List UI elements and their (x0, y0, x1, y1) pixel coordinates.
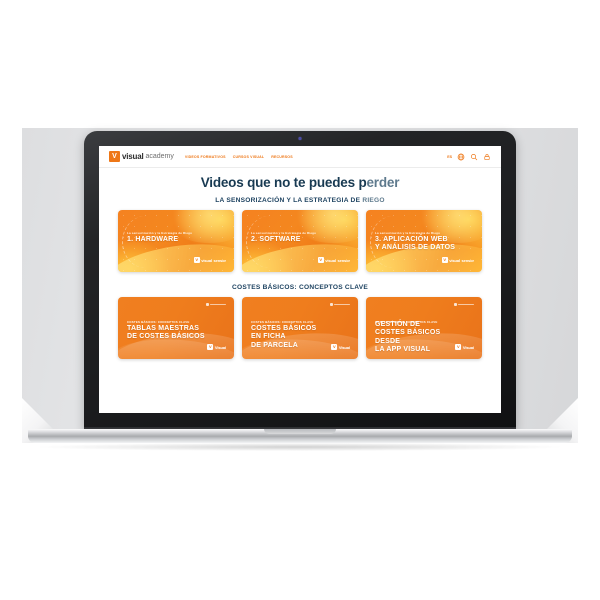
section-heading-main: LA SENSORIZACIÓN Y LA ESTRATEGIA DE (215, 197, 362, 204)
card-logo-visual: V Visual (455, 344, 474, 350)
card-logo-visualsensor: V visual sensor (318, 257, 350, 263)
laptop-base-notch (264, 429, 336, 434)
card-logo-mark-icon: V (194, 257, 200, 263)
laptop-screen: V visual academy VIDEOS FORMATIVOS CURSO… (99, 146, 501, 413)
card-title: GESTIÓN DE COSTES BÁSICOS DESDE LA APP V… (375, 321, 440, 354)
nav-item-cursos-visual[interactable]: CURSOS VISUAL (233, 155, 265, 159)
card-badge-bar (334, 304, 350, 306)
card-title: COSTES BÁSICOS EN FICHA DE PARCELA (251, 325, 316, 350)
site-navbar: V visual academy VIDEOS FORMATIVOS CURSO… (99, 146, 501, 168)
section-heading-costes: COSTES BÁSICOS: CONCEPTOS CLAVE (109, 284, 491, 291)
card-logo-mark-icon: V (331, 344, 337, 350)
card-logo-text-bold: sensor (337, 258, 350, 263)
laptop-shadow (40, 443, 560, 451)
logo-subword: academy (145, 153, 173, 160)
language-label[interactable]: ES (447, 155, 452, 159)
card-logo-mark-icon: V (442, 257, 448, 263)
card-title: 3. APLICACIÓN WEB Y ANÁLISIS DE DATOS (375, 236, 455, 253)
card-logo-visualsensor: V visual sensor (442, 257, 474, 263)
site-logo[interactable]: V visual academy (109, 151, 174, 162)
card-logo-text: visual (201, 258, 212, 263)
card-row-costes: COSTES BÁSICOS: CONCEPTOS CLAVE TABLAS M… (109, 297, 491, 359)
section-heading-accent: RIEGO (362, 197, 385, 204)
card-badge (206, 303, 227, 306)
video-card-gestion-app-visual[interactable]: COSTES BÁSICOS: CONCEPTOS CLAVE GESTIÓN … (366, 297, 482, 359)
nav-item-videos-formativos[interactable]: VIDEOS FORMATIVOS (185, 155, 226, 159)
card-logo-visualsensor: V visual sensor (194, 257, 226, 263)
card-eyebrow: La sensorización y la Estrategia de Rieg… (375, 231, 440, 235)
card-row-sensorizacion: La sensorización y la Estrategia de Rieg… (109, 210, 491, 272)
nav-utilities: ES (447, 153, 491, 161)
card-logo-mark-icon: V (455, 344, 461, 350)
section-heading-main: COSTES BÁSICOS: CONCEPTOS CLAVE (232, 284, 368, 291)
card-logo-text: Visual (339, 345, 350, 350)
page-content: Videos que no te puedes perder LA SENSOR… (99, 168, 501, 359)
page-title: Videos que no te puedes perder (109, 175, 491, 190)
screenshot-stage: V visual academy VIDEOS FORMATIVOS CURSO… (0, 0, 600, 600)
card-title: TABLAS MAESTRAS DE COSTES BÁSICOS (127, 325, 205, 342)
card-logo-visual: V Visual (207, 344, 226, 350)
page-title-accent: erder (367, 175, 400, 190)
video-card-tablas-maestras[interactable]: COSTES BÁSICOS: CONCEPTOS CLAVE TABLAS M… (118, 297, 234, 359)
card-badge (454, 303, 475, 306)
nav-item-recursos[interactable]: RECURSOS (271, 155, 293, 159)
video-card-ficha-parcela[interactable]: COSTES BÁSICOS: CONCEPTOS CLAVE COSTES B… (242, 297, 358, 359)
nav-links: VIDEOS FORMATIVOS CURSOS VISUAL RECURSOS (185, 155, 293, 159)
card-logo-mark-icon: V (318, 257, 324, 263)
card-badge (330, 303, 351, 306)
card-title: 1. HARDWARE (127, 236, 178, 244)
card-badge-bar (458, 304, 474, 306)
card-logo-text: Visual (215, 345, 226, 350)
card-logo-text: visual (449, 258, 460, 263)
page-title-main: Videos que no te puedes p (201, 175, 367, 190)
card-logo-text: visual (325, 258, 336, 263)
webcam-icon (299, 137, 302, 140)
card-eyebrow: COSTES BÁSICOS: CONCEPTOS CLAVE (251, 320, 313, 324)
card-badge-dot-icon (454, 303, 457, 306)
card-logo-mark-icon: V (207, 344, 213, 350)
section-heading-sensorizacion: LA SENSORIZACIÓN Y LA ESTRATEGIA DE RIEG… (109, 197, 491, 204)
globe-icon[interactable] (457, 153, 465, 161)
video-card-hardware[interactable]: La sensorización y la Estrategia de Rieg… (118, 210, 234, 272)
card-eyebrow: La sensorización y la Estrategia de Rieg… (251, 231, 316, 235)
card-title: 2. SOFTWARE (251, 236, 301, 244)
video-card-software[interactable]: La sensorización y la Estrategia de Rieg… (242, 210, 358, 272)
card-logo-visual: V Visual (331, 344, 350, 350)
video-card-aplicacion-web[interactable]: La sensorización y la Estrategia de Rieg… (366, 210, 482, 272)
card-badge-dot-icon (330, 303, 333, 306)
logo-mark-icon: V (109, 151, 120, 162)
card-eyebrow: COSTES BÁSICOS: CONCEPTOS CLAVE (127, 320, 189, 324)
card-logo-text-bold: sensor (213, 258, 226, 263)
card-logo-text-bold: sensor (461, 258, 474, 263)
card-eyebrow: La sensorización y la Estrategia de Rieg… (127, 231, 192, 235)
card-badge-dot-icon (206, 303, 209, 306)
lock-icon[interactable] (483, 153, 491, 161)
search-icon[interactable] (470, 153, 478, 161)
logo-word: visual (122, 152, 143, 161)
card-badge-bar (210, 304, 226, 306)
card-logo-text: Visual (463, 345, 474, 350)
